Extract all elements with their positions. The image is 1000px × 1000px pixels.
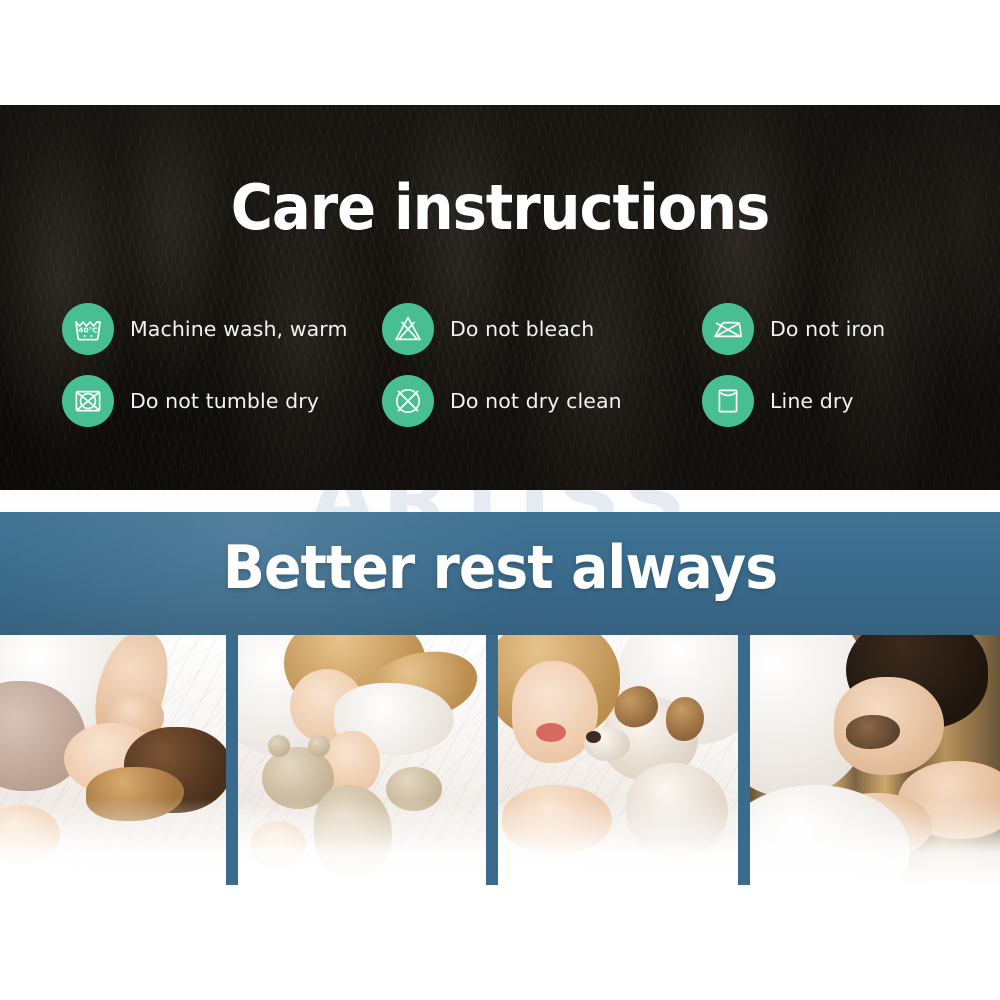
section-divider-gap: ARTISS [0, 490, 1000, 512]
photo-girl-sleeping-with-teddy [238, 635, 486, 885]
product-care-infographic: Care instructions 40°C Machine wash, war… [0, 0, 1000, 1000]
care-symbol-grid: 40°C Machine wash, warm Do not bleach [62, 293, 942, 437]
do-not-dry-clean-icon [382, 375, 434, 427]
care-label-machine-wash: Machine wash, warm [130, 317, 348, 341]
care-instructions-panel: Care instructions 40°C Machine wash, war… [0, 105, 1000, 490]
do-not-tumble-dry-icon [62, 375, 114, 427]
photo-woman-with-dog-in-bed [498, 635, 738, 885]
care-item-do-not-iron: Do not iron [702, 303, 942, 355]
photo-woman-stretching-in-bed [0, 635, 226, 885]
care-item-machine-wash: 40°C Machine wash, warm [62, 303, 382, 355]
machine-wash-40c-icon: 40°C [62, 303, 114, 355]
care-label-line-dry: Line dry [770, 389, 854, 413]
care-label-do-not-bleach: Do not bleach [450, 317, 594, 341]
care-label-do-not-iron: Do not iron [770, 317, 885, 341]
do-not-iron-icon [702, 303, 754, 355]
care-item-do-not-bleach: Do not bleach [382, 303, 702, 355]
care-label-do-not-dry-clean: Do not dry clean [450, 389, 622, 413]
care-instructions-title: Care instructions [35, 177, 965, 239]
care-item-do-not-tumble-dry: Do not tumble dry [62, 375, 382, 427]
line-dry-icon [702, 375, 754, 427]
care-label-do-not-tumble-dry: Do not tumble dry [130, 389, 319, 413]
photo-man-sleeping-on-pillow [750, 635, 1000, 885]
lifestyle-photo-strip [0, 635, 1000, 885]
do-not-bleach-icon [382, 303, 434, 355]
care-item-line-dry: Line dry [702, 375, 942, 427]
svg-text:40°C: 40°C [78, 325, 97, 334]
care-item-do-not-dry-clean: Do not dry clean [382, 375, 702, 427]
brand-watermark: ARTISS [0, 490, 1000, 512]
better-rest-banner: Better rest always [0, 512, 1000, 635]
better-rest-title: Better rest always [40, 538, 960, 598]
